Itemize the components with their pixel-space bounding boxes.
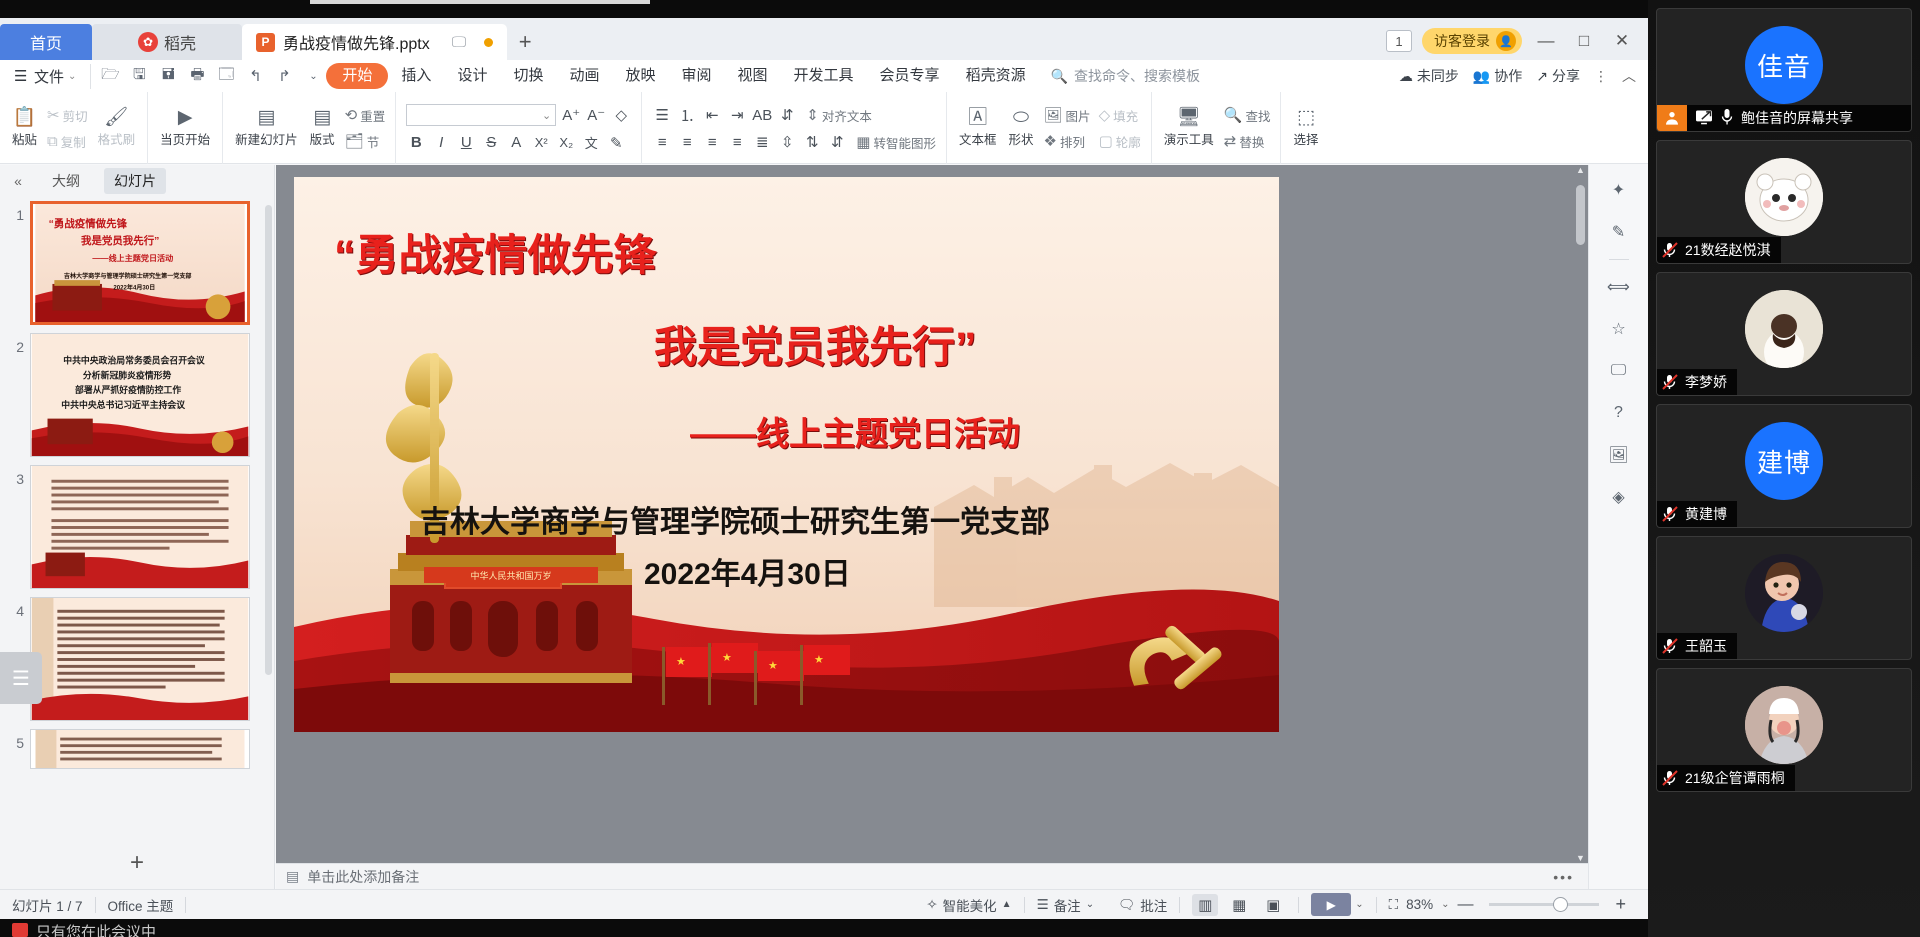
ribbon-toolbar: 📋 粘贴 ✂ 剪切 ⧉ 复制 🖌 格式刷 [0, 92, 1648, 164]
slide-panel-header: « 大纲 幻灯片 [0, 165, 274, 197]
find-button[interactable]: 🔍 查找 [1224, 106, 1271, 125]
paragraph-row-1: ☰ ⒈ ⇤ ⇥ AB ⇵ ⇕ 对齐文本 [652, 105, 936, 126]
command-search[interactable]: 🔍 查找命令、搜索模板 [1051, 66, 1200, 86]
star-icon[interactable]: ☆ [1604, 314, 1634, 344]
ribbon-tab-animations[interactable]: 动画 [556, 63, 612, 89]
thumbnail-graphic [31, 598, 249, 720]
slide-thumbnail-4[interactable] [30, 597, 250, 721]
collaborate-button[interactable]: 👥 协作 [1473, 66, 1522, 86]
participant-card[interactable]: 建博 黄建博 [1656, 404, 1912, 528]
font-color-icon[interactable]: A [506, 134, 526, 151]
ribbon-tab-start[interactable]: 开始 [326, 63, 388, 89]
toolbar-group-insert: 🄰 文本框 ⬭ 形状 🖼 图片 ❖ 排列 [947, 92, 1152, 164]
participant-card[interactable]: 李梦娇 [1656, 272, 1912, 396]
ai-assistant-icon[interactable]: ✦ [1604, 175, 1634, 205]
copy-button[interactable]: ⧉ 复制 [47, 132, 88, 151]
avatar-photo [1745, 554, 1823, 632]
notes-pane[interactable]: ▤ 单击此处添加备注 ••• [276, 863, 1588, 889]
spacing-icon[interactable]: ⇵ [827, 133, 847, 151]
slide-thumbnail-row[interactable]: 5 [0, 725, 274, 773]
reading-view-icon[interactable]: ▣ [1260, 894, 1286, 916]
print-preview-icon[interactable]: 🗔 [213, 64, 239, 89]
new-tab-button[interactable]: + [507, 24, 543, 60]
bullets-icon[interactable]: ☰ [652, 106, 672, 124]
chevron-down-icon: ⌄ [542, 109, 551, 122]
slide-thumbnail-2[interactable]: 中共中央政治局常务委员会召开会议 分析新冠肺炎疫情形势 部署从严抓好疫情防控工作… [30, 333, 250, 457]
participant-name-bar: 鲍佳音的屏幕共享 [1657, 105, 1911, 131]
print-icon[interactable]: 🖶 [184, 64, 210, 89]
paste-label: 粘贴 [12, 129, 37, 148]
current-slide[interactable]: ★ ★ ★ ★ “勇战疫情做先锋 我是党员我先行” ——线上主题党日活动 吉林大… [294, 177, 1279, 732]
slide-panel-scrollbar[interactable] [265, 205, 272, 675]
notes-icon: ☰ [1037, 897, 1049, 913]
share-label: 分享 [1552, 66, 1580, 86]
meeting-participants-panel: 佳音 [1648, 0, 1920, 937]
status-bar: 幻灯片 1 / 7 Office 主题 ✧ 智能美化 ▲ ☰ 备注 ⌄ 🗨 [0, 889, 1648, 919]
mic-muted-glyph [1661, 373, 1679, 391]
underline-icon[interactable]: U [456, 134, 476, 151]
theme-name[interactable]: Office 主题 [96, 895, 186, 915]
normal-view-icon[interactable]: ▥ [1192, 894, 1218, 916]
host-icon [1657, 105, 1687, 131]
slide-number: 3 [8, 465, 24, 487]
participant-name: 黄建博 [1685, 504, 1727, 524]
align-center-icon[interactable]: ≡ [677, 134, 697, 151]
paragraph-spacing-icon[interactable]: ⇅ [802, 133, 822, 151]
zoom-out-button[interactable]: — [1457, 896, 1473, 914]
zoom-in-button[interactable]: + [1615, 894, 1636, 915]
slide-sorter-icon[interactable]: ▦ [1226, 894, 1252, 916]
status-divider [185, 897, 186, 913]
file-menu-button[interactable]: ☰ 文件 ⌄ [0, 66, 86, 87]
convert-to-smartart-label: 转智能图形 [873, 133, 936, 152]
guest-login-label: 访客登录 [1434, 31, 1490, 51]
daoke-icon: ✿ [138, 32, 158, 52]
slide-counter: 幻灯片 1 / 7 [0, 895, 95, 915]
participant-name-bar: 李梦娇 [1657, 369, 1737, 395]
save-icon[interactable]: 🖫 [126, 64, 152, 89]
thumbnail-graphic [31, 730, 249, 768]
slide-text-block[interactable]: “勇战疫情做先锋 我是党员我先行” ——线上主题党日活动 吉林大学商学与管理学院… [334, 221, 1239, 593]
screen-share-glyph [1695, 109, 1713, 125]
minimize-button[interactable]: — [1532, 31, 1560, 51]
close-button[interactable]: ✕ [1608, 31, 1636, 51]
share-button[interactable]: ↗ 分享 [1536, 66, 1580, 86]
slide-number: 4 [8, 597, 24, 619]
find-replace-stack: 🔍 查找 ⇄ 替换 [1221, 106, 1274, 151]
align-text-button[interactable]: ⇕ 对齐文本 [806, 106, 872, 125]
ribbon-tab-view[interactable]: 视图 [725, 63, 781, 89]
picture-button[interactable]: 🖼 图片 [1044, 106, 1091, 125]
mic-muted-icon [1661, 637, 1679, 655]
fill-label: 填充 [1113, 106, 1138, 125]
beautify-icon: ✧ [926, 897, 937, 913]
meeting-bottom-text: 只有您在此会议中 [36, 921, 156, 937]
ribbon-tab-member[interactable]: 会员专享 [867, 63, 953, 89]
image-icon: 🖼 [1044, 106, 1063, 124]
replace-icon: ⇄ [1224, 132, 1237, 150]
participant-name: 21级企管谭雨桐 [1685, 768, 1785, 788]
mic-muted-icon [1661, 505, 1679, 523]
sync-status-label: 未同步 [1417, 66, 1459, 86]
select-label: 选择 [1293, 129, 1318, 148]
help-icon[interactable]: ? [1604, 398, 1634, 428]
subscript-icon[interactable]: X₂ [556, 135, 576, 150]
ribbon-collapse-icon[interactable]: ︿ [1622, 66, 1636, 86]
thumbnail-graphic: 中共中央政治局常务委员会召开会议 分析新冠肺炎疫情形势 部署从严抓好疫情防控工作… [31, 334, 249, 456]
notes-toggle-button[interactable]: ☰ 备注 ⌄ [1025, 895, 1107, 915]
picture-label: 图片 [1066, 106, 1091, 125]
right-tool-rail: ✦ ✎ ⟺ ☆ 🖵 ? 🖼 ◈ [1588, 165, 1648, 889]
desktop-bottom-strip [0, 919, 1648, 937]
shape-icon: ⬭ [1013, 108, 1029, 127]
ribbon-tab-insert[interactable]: 插入 [388, 63, 444, 89]
avatar-photo [1745, 290, 1823, 368]
thumb-line-1: “勇战疫情做先锋 [49, 217, 128, 230]
paragraph-controls: ☰ ⒈ ⇤ ⇥ AB ⇵ ⇕ 对齐文本 ≡ ≡ ≡ [649, 105, 939, 152]
participant-card[interactable]: 王韶玉 [1656, 536, 1912, 660]
layout-label: 版式 [310, 129, 335, 148]
comment-icon: 🗨 [1118, 897, 1135, 913]
participant-card-self[interactable]: 佳音 [1656, 8, 1912, 132]
slide-thumbnail-5[interactable] [30, 729, 250, 769]
customize-quick-access-icon[interactable]: ⌄ [300, 71, 326, 82]
ribbon-tab-developer[interactable]: 开发工具 [781, 63, 867, 89]
recording-indicator-icon [12, 923, 28, 937]
fill-icon: ◇ [1099, 106, 1111, 124]
strikethrough-icon[interactable]: S [481, 134, 501, 151]
format-painter-button[interactable]: 🖌 格式刷 [93, 108, 141, 148]
sync-status-button[interactable]: ☁ 未同步 [1399, 66, 1459, 86]
tab-document-label: 勇战疫情做先锋.pptx [283, 30, 430, 54]
numbering-icon[interactable]: ⒈ [677, 105, 697, 126]
tab-slides[interactable]: 幻灯片 [104, 168, 166, 194]
zoom-slider[interactable] [1489, 903, 1599, 906]
select-button[interactable]: ⬚ 选择 [1288, 108, 1323, 148]
tab-count-badge[interactable]: 1 [1386, 30, 1412, 52]
select-icon: ⬚ [1297, 108, 1315, 127]
notes-placeholder: 单击此处添加备注 [307, 867, 419, 887]
maximize-button[interactable]: □ [1570, 31, 1598, 51]
slide-number: 1 [8, 201, 24, 223]
participant-name-bar: 黄建博 [1657, 501, 1737, 527]
textbox-label: 文本框 [959, 129, 997, 148]
thumb2-line-3: 部署从严抓好疫情防控工作 [75, 384, 181, 395]
new-slide-button[interactable]: ▤ 新建幻灯片 [230, 108, 303, 148]
comment-label: 批注 [1140, 895, 1167, 915]
guest-login-button[interactable]: 访客登录 👤 [1422, 28, 1522, 54]
present-tools-icon: 🖥 [1177, 108, 1201, 127]
zoom-slider-knob[interactable] [1553, 897, 1568, 912]
mic-glyph [1721, 108, 1733, 126]
avatar [1745, 290, 1823, 368]
beautify-label: 智能美化 [943, 895, 997, 915]
search-icon: 🔍 [1224, 106, 1243, 124]
character-style-icon[interactable]: 文 [581, 133, 601, 152]
collaborate-label: 协作 [1494, 66, 1522, 86]
avatar [1745, 686, 1823, 764]
replace-label: 替换 [1239, 132, 1264, 151]
toolbar-group-tools: 🖥 演示工具 🔍 查找 ⇄ 替换 [1152, 92, 1282, 164]
command-search-placeholder: 查找命令、搜索模板 [1074, 66, 1200, 86]
collaborate-icon: 👥 [1473, 68, 1490, 85]
text-direction-icon[interactable]: AB [752, 107, 772, 124]
toolbar-group-select: ⬚ 选择 [1281, 92, 1330, 164]
slide-title-line2: 我是党员我先行” [654, 313, 1239, 375]
ribbon-tab-design[interactable]: 设计 [444, 63, 500, 89]
thumb2-line-4: 中共中央总书记习近平主持会议 [61, 399, 185, 410]
smart-beautify-button[interactable]: ✧ 智能美化 ▲ [914, 895, 1023, 915]
mic-muted-glyph [1661, 241, 1679, 259]
participant-name-bar: 王韶玉 [1657, 633, 1737, 659]
copy-label: 复制 [61, 132, 86, 151]
ribbon-tab-resources[interactable]: 稻壳资源 [953, 63, 1039, 89]
slide-thumbnail-row[interactable]: 2 中共中央政治局常务委员会召开会议 分析新冠肺炎疫情形势 部署从严抓好疫情防控… [0, 329, 274, 461]
tiananmen-banner-text: 中华人民共和国万岁 [424, 567, 598, 583]
distribute-icon[interactable]: ≣ [752, 133, 772, 151]
highlight-icon[interactable]: ✎ [606, 134, 626, 152]
decrease-indent-icon[interactable]: ⇤ [702, 106, 722, 124]
tab-daoke-label: 稻壳 [164, 30, 196, 54]
mic-muted-icon [1661, 241, 1679, 259]
ribbon-more-icon[interactable]: ⋮ [1594, 68, 1608, 85]
align-left-icon[interactable]: ≡ [652, 134, 672, 151]
powerpoint-file-icon: P [256, 33, 275, 52]
svg-text:★: ★ [814, 654, 824, 666]
collapse-panel-icon[interactable]: « [8, 173, 28, 189]
new-tab-label: + [519, 29, 532, 55]
fill-button[interactable]: ◇ 填充 [1099, 106, 1141, 125]
outline-button[interactable]: ▢ 轮廓 [1099, 132, 1141, 151]
avatar-initials: 建博 [1757, 443, 1811, 480]
cut-label: 剪切 [63, 106, 88, 125]
ribbon-tab-slideshow[interactable]: 放映 [612, 63, 668, 89]
mic-muted-icon [1661, 769, 1679, 787]
notes-icon: ▤ [286, 868, 299, 885]
arrange-icon: ❖ [1044, 132, 1057, 150]
undo-icon[interactable]: ↰ [242, 67, 268, 85]
paragraph-row-2: ≡ ≡ ≡ ≡ ≣ ⇳ ⇅ ⇵ ▦ 转智能图形 [652, 133, 936, 152]
outline-label: 轮廓 [1116, 132, 1141, 151]
avatar-photo [1745, 686, 1823, 764]
smartart-icon: ▦ [856, 133, 870, 151]
avatar: 佳音 [1745, 26, 1823, 104]
zoom-level-label[interactable]: 83% [1406, 897, 1433, 912]
decrease-font-size-icon[interactable]: A⁻ [586, 106, 606, 124]
picture-icon[interactable]: 🖼 [1604, 440, 1634, 470]
participant-name: 21数经赵悦淇 [1685, 240, 1771, 260]
participant-name-bar: 21级企管谭雨桐 [1657, 765, 1795, 791]
sort-icon[interactable]: ⇵ [777, 106, 797, 124]
screen-share-icon [1695, 109, 1713, 128]
mic-muted-glyph [1661, 637, 1679, 655]
thumb-line-3: ——线上主题党日活动 [92, 253, 173, 263]
zoom-controls: ⛶ 83% ⌄ — + [1377, 894, 1648, 915]
font-row-2: B I U S A X² X₂ 文 ✎ [406, 133, 631, 152]
slides-small-commands: ⟲ 重置 🗂 节 [342, 106, 389, 151]
chevron-up-icon: ▲ [1002, 899, 1012, 910]
slide-subtitle: ——线上主题党日活动 [690, 407, 1239, 455]
tab-daoke[interactable]: ✿ 稻壳 [92, 24, 242, 60]
find-label: 查找 [1245, 106, 1270, 125]
add-slide-label: + [130, 849, 144, 877]
participant-name: 李梦娇 [1685, 372, 1727, 392]
toolbar-group-clipboard: 📋 粘贴 ✂ 剪切 ⧉ 复制 🖌 格式刷 [0, 92, 148, 164]
justify-icon[interactable]: ≡ [727, 134, 747, 151]
reset-icon: ⟲ [345, 106, 358, 124]
tab-document[interactable]: P 勇战疫情做先锋.pptx 🖵 [242, 24, 507, 60]
present-tools-button[interactable]: 🖥 演示工具 [1159, 108, 1219, 148]
cut-button[interactable]: ✂ 剪切 [47, 106, 88, 125]
section-icon: 🗂 [345, 132, 364, 150]
mic-icon [1721, 108, 1733, 129]
view-switcher: ▥ ▦ ▣ [1180, 894, 1298, 916]
scroll-up-icon[interactable]: ▲ [1576, 165, 1585, 175]
avatar [1745, 554, 1823, 632]
slide-canvas-area[interactable]: ★ ★ ★ ★ “勇战疫情做先锋 我是党员我先行” ——线上主题党日活动 吉林大… [276, 165, 1588, 863]
outline-icon: ▢ [1099, 132, 1113, 150]
screen-icon[interactable]: 🖵 [1604, 356, 1634, 386]
ribbon-right-actions: ☁ 未同步 👥 协作 ↗ 分享 ⋮ ︿ [1399, 66, 1648, 86]
mic-muted-icon [1661, 373, 1679, 391]
tab-home[interactable]: 首页 [0, 24, 92, 60]
slide-thumbnail-3[interactable] [30, 465, 250, 589]
reset-button[interactable]: ⟲ 重置 [345, 106, 386, 125]
comment-button[interactable]: 🗨 批注 [1106, 895, 1179, 915]
avatar-icon: 👤 [1496, 31, 1516, 51]
shape-button[interactable]: ⬭ 形状 [1003, 108, 1038, 148]
start-from-current-label: 当页开始 [160, 129, 210, 148]
arrange-button[interactable]: ❖ 排列 [1044, 132, 1091, 151]
avatar [1745, 158, 1823, 236]
window-controls: 1 访客登录 👤 — □ ✕ [1386, 28, 1648, 60]
italic-icon[interactable]: I [431, 134, 451, 151]
clear-formatting-icon[interactable]: ◇ [611, 106, 631, 124]
ribbon-tab-transitions[interactable]: 切换 [500, 63, 556, 89]
align-text-icon: ⇕ [806, 106, 819, 124]
window-highlight-bar [310, 0, 650, 4]
redo-icon[interactable]: ↱ [271, 67, 297, 85]
thumb-line-4: 吉林大学商学与管理学院硕士研究生第一党支部 [64, 272, 192, 280]
reset-label: 重置 [360, 106, 385, 125]
copy-icon: ⧉ [47, 133, 58, 150]
ribbon-tab-review[interactable]: 审阅 [669, 63, 725, 89]
slide-thumbnail-row[interactable]: 1 “勇战疫情做先锋 我是党员我先行” [0, 197, 274, 329]
share-icon: ↗ [1536, 68, 1548, 85]
slide-navigator-panel: « 大纲 幻灯片 1 [0, 165, 275, 889]
textbox-button[interactable]: 🄰 文本框 [954, 108, 1002, 148]
slide-number: 2 [8, 333, 24, 355]
thumb-line-2: 我是党员我先行” [81, 234, 159, 247]
section-label: 节 [367, 132, 380, 151]
play-slideshow-button[interactable]: ▶ [1311, 893, 1351, 916]
new-slide-label: 新建幻灯片 [235, 129, 298, 148]
scroll-down-icon[interactable]: ▼ [1576, 853, 1585, 863]
increase-font-size-icon[interactable]: A⁺ [561, 106, 581, 124]
ribbon-tab-bar: ☰ 文件 ⌄ 🗁 🖫 🖬 🖶 🗔 ↰ ↱ ⌄ 开始 插入 设计 切换 动画 放映… [0, 60, 1648, 92]
shape-label: 形状 [1008, 129, 1033, 148]
scrollbar-thumb[interactable] [1576, 185, 1585, 245]
increase-indent-icon[interactable]: ⇥ [727, 106, 747, 124]
open-icon[interactable]: 🗁 [97, 64, 123, 89]
mic-muted-glyph [1661, 769, 1679, 787]
participant-card[interactable]: 21级企管谭雨桐 [1656, 668, 1912, 792]
superscript-icon[interactable]: X² [531, 135, 551, 150]
participant-name-bar: 21数经赵悦淇 [1657, 237, 1781, 263]
svg-text:★: ★ [722, 652, 732, 664]
toolbar-group-paragraph: ☰ ⒈ ⇤ ⇥ AB ⇵ ⇕ 对齐文本 ≡ ≡ ≡ [642, 92, 947, 164]
font-row-1: ⌄ A⁺ A⁻ ◇ [406, 104, 631, 126]
thumb2-line-1: 中共中央政治局常务委员会召开会议 [63, 355, 205, 366]
format-painter-icon: 🖌 [104, 108, 128, 127]
slide-thumbnail-1[interactable]: “勇战疫情做先锋 我是党员我先行” ——线上主题党日活动 吉林大学商学与管理学院… [30, 201, 250, 325]
pen-icon[interactable]: ✎ [1604, 217, 1634, 247]
slide-thumbnail-row[interactable]: 3 [0, 461, 274, 593]
start-from-current-button[interactable]: ▶ 当页开始 [155, 108, 215, 148]
slide-number: 5 [8, 729, 24, 751]
avatar-photo [1745, 158, 1823, 236]
replace-button[interactable]: ⇄ 替换 [1224, 132, 1271, 151]
layout-button[interactable]: ▤ 版式 [305, 108, 340, 148]
line-spacing-icon[interactable]: ⇳ [777, 133, 797, 151]
file-menu-label: 文件 [34, 66, 64, 87]
status-bar-right: ✧ 智能美化 ▲ ☰ 备注 ⌄ 🗨 批注 ▥ ▦ ▣ [914, 893, 1648, 916]
tab-outline[interactable]: 大纲 [42, 168, 90, 194]
document-tab-bar: 首页 ✿ 稻壳 P 勇战疫情做先锋.pptx 🖵 + 1 访客登录 👤 [0, 18, 1648, 60]
slide-thumbnail-list[interactable]: 1 “勇战疫情做先锋 我是党员我先行” [0, 197, 274, 837]
participant-card[interactable]: 21数经赵悦淇 [1656, 140, 1912, 264]
zoom-options-chevron-icon[interactable]: ⌄ [1441, 899, 1449, 910]
font-family-input[interactable]: ⌄ [406, 104, 556, 126]
monitor-icon[interactable]: 🖵 [452, 34, 466, 51]
convert-to-smartart-button[interactable]: ▦ 转智能图形 [856, 133, 936, 152]
toolbar-group-slides: ▤ 新建幻灯片 ▤ 版式 ⟲ 重置 🗂 节 [223, 92, 396, 164]
play-options-chevron-icon[interactable]: ⌄ [1355, 899, 1363, 910]
align-right-icon[interactable]: ≡ [702, 134, 722, 151]
fit-screen-icon[interactable]: ⛶ [1389, 897, 1398, 913]
shield-icon[interactable]: ◈ [1604, 482, 1634, 512]
arrange-label: 排列 [1060, 132, 1085, 151]
insert-small-1: 🖼 图片 ❖ 排列 [1041, 106, 1094, 151]
desktop-top-strip [0, 0, 1920, 18]
play-circle-icon: ▶ [178, 108, 193, 127]
present-tools-label: 演示工具 [1164, 129, 1214, 148]
avatar: 建博 [1745, 422, 1823, 500]
ruler-icon[interactable]: ⟺ [1604, 272, 1634, 302]
svg-text:★: ★ [768, 660, 778, 672]
avatar-initials: 佳音 [1757, 47, 1811, 84]
paste-button[interactable]: 📋 粘贴 [7, 108, 42, 148]
insert-small-2: ◇ 填充 ▢ 轮廓 [1096, 106, 1144, 151]
participant-name: 王韶玉 [1685, 636, 1727, 656]
chevron-down-icon: ⌄ [68, 71, 76, 82]
unsaved-dot-indicator [484, 38, 493, 47]
add-slide-button[interactable]: + [0, 837, 274, 889]
slide-list-toggle-badge[interactable]: ☰ [0, 652, 42, 704]
toolbar-group-font: ⌄ A⁺ A⁻ ◇ B I U S A X² X₂ 文 [396, 92, 642, 164]
toolbar-group-present: ▶ 当页开始 [148, 92, 223, 164]
bold-icon[interactable]: B [406, 134, 426, 151]
new-slide-icon: ▤ [257, 108, 275, 127]
slide-vertical-scrollbar[interactable]: ▲ ▼ [1576, 171, 1585, 835]
notes-more-icon[interactable]: ••• [1553, 869, 1588, 885]
slide-org: 吉林大学商学与管理学院硕士研究生第一党支部 [420, 497, 1239, 541]
cloud-sync-icon: ☁ [1399, 68, 1413, 85]
wps-presentation-window: 首页 ✿ 稻壳 P 勇战疫情做先锋.pptx 🖵 + 1 访客登录 👤 [0, 18, 1648, 919]
section-button[interactable]: 🗂 节 [345, 132, 386, 151]
textbox-icon: 🄰 [968, 108, 987, 127]
save-as-icon[interactable]: 🖬 [155, 64, 181, 89]
